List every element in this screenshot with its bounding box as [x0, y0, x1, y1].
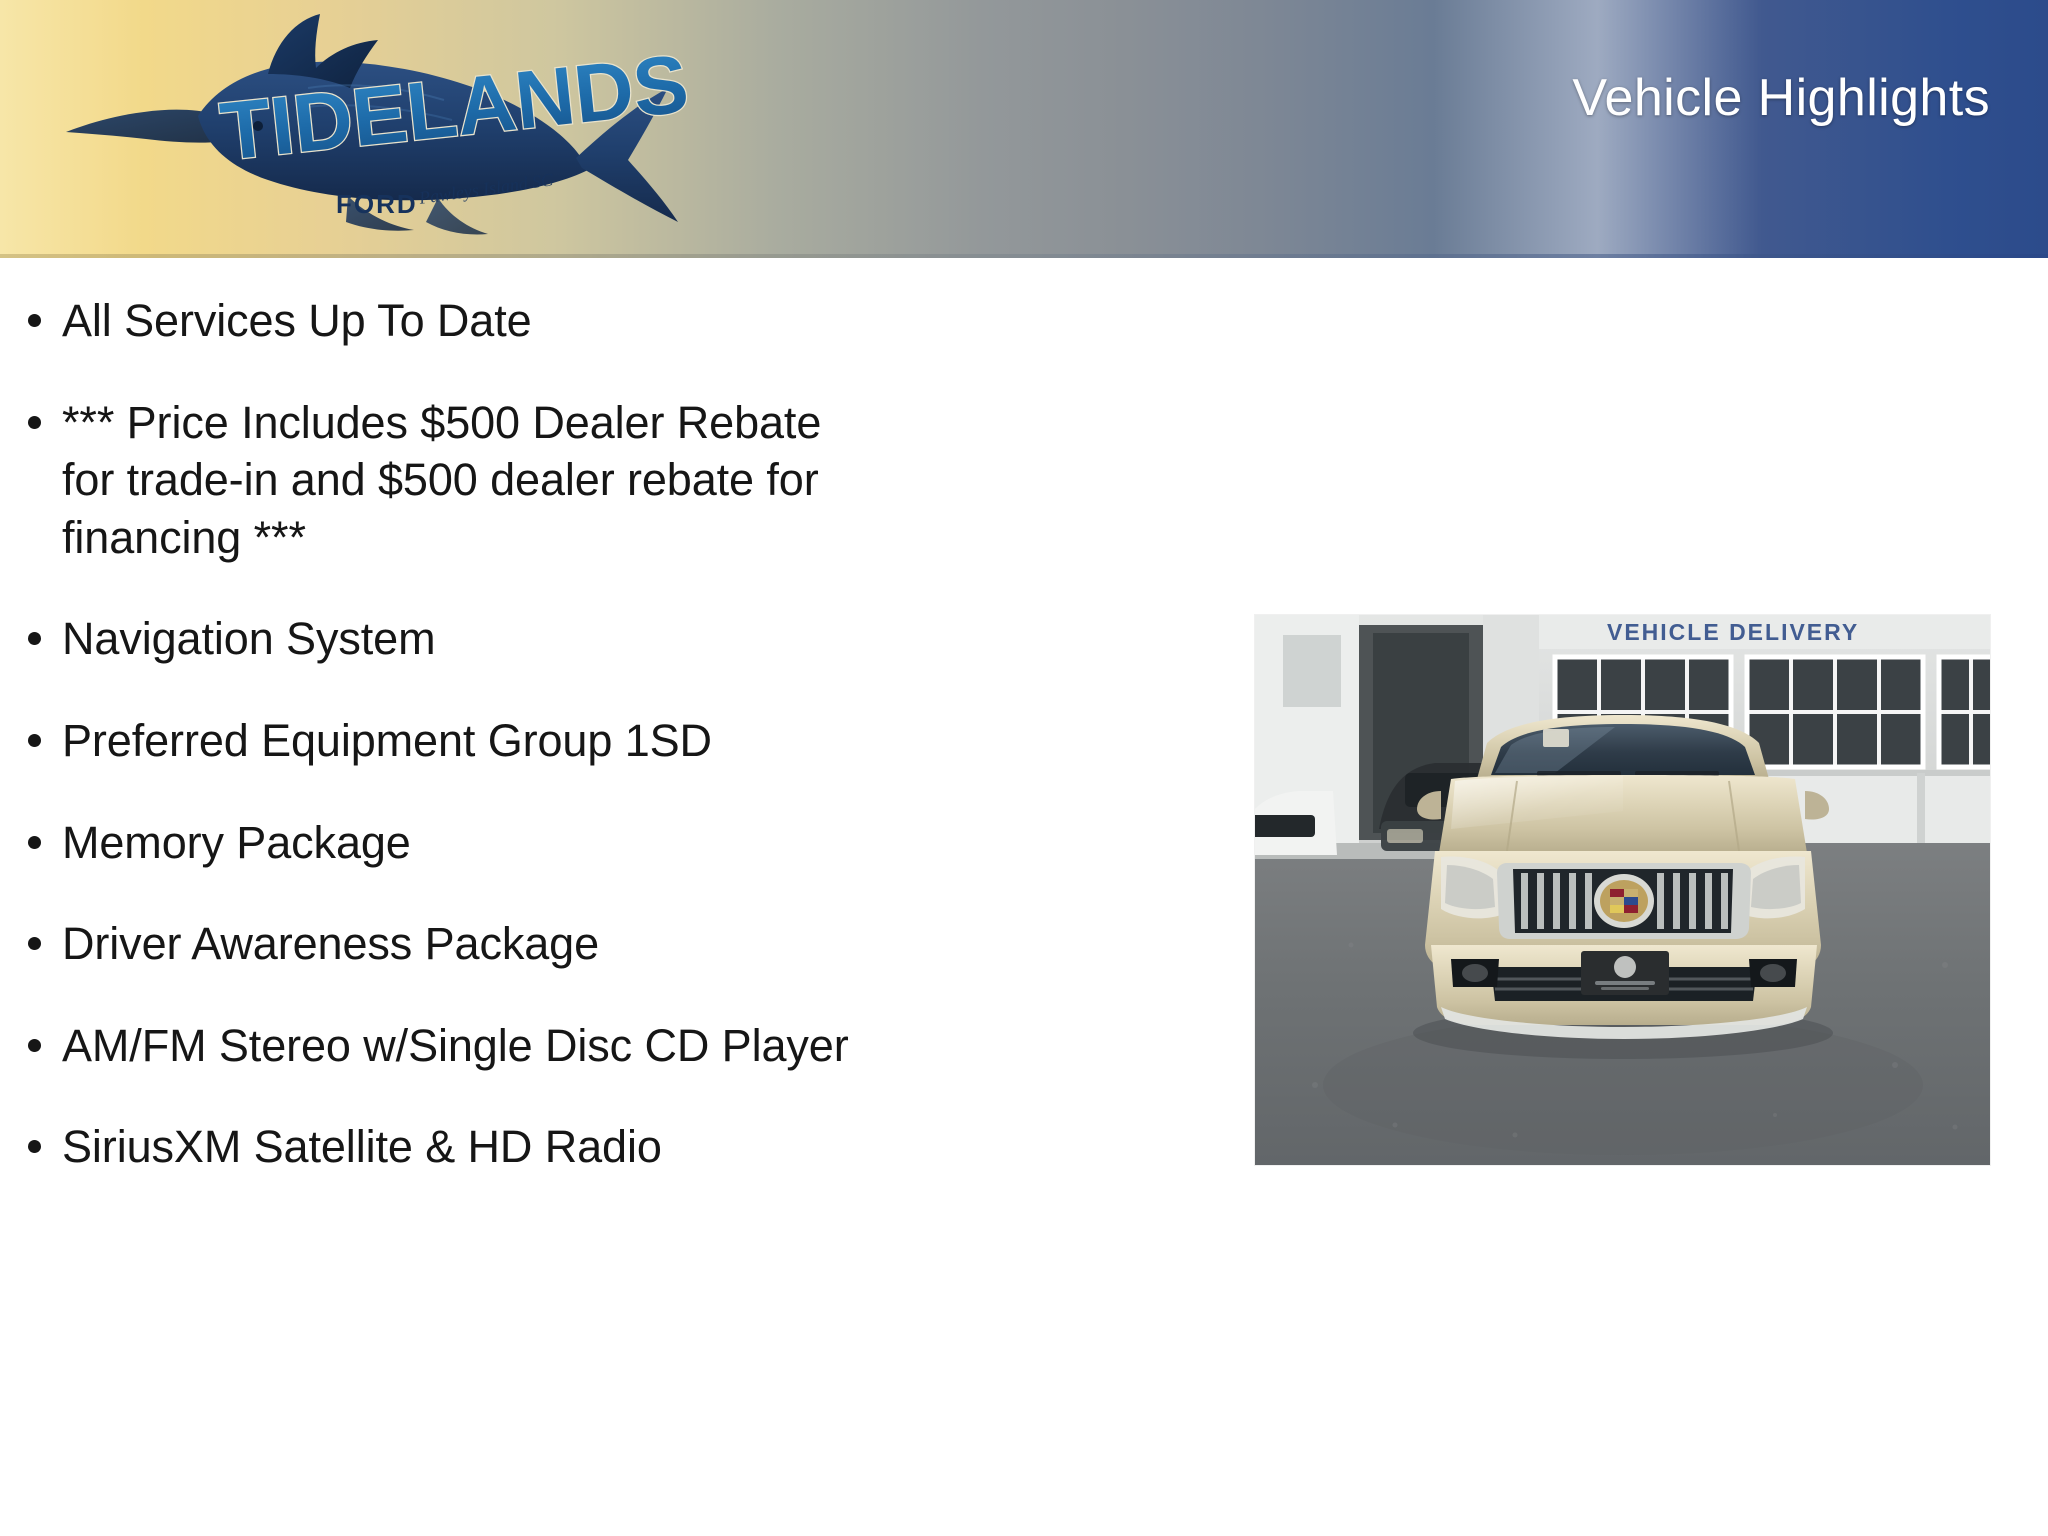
header-banner: TIDELANDS FORD Pawleys Island SC Vehicle…: [0, 0, 2048, 258]
vehicle-highlights-list: All Services Up To Date *** Price Includ…: [22, 292, 1202, 1176]
list-item: AM/FM Stereo w/Single Disc CD Player: [22, 1017, 1202, 1075]
bullet-point-icon: [28, 314, 41, 327]
dealership-sign-text: VEHICLE DELIVERY: [1607, 619, 1859, 645]
list-item-label: All Services Up To Date: [62, 292, 1202, 350]
vehicle-front-photo: VEHICLE DELIVERY: [1255, 615, 1990, 1165]
bullet-point-icon: [28, 632, 41, 645]
list-item-label: SiriusXM Satellite & HD Radio: [62, 1118, 1202, 1176]
bullet-point-icon: [28, 416, 41, 429]
bullet-point-icon: [28, 734, 41, 747]
bullet-point-icon: [28, 1140, 41, 1153]
bullet-point-icon: [28, 937, 41, 950]
page-title: Vehicle Highlights: [1572, 68, 1990, 128]
bullet-point-icon: [28, 1039, 41, 1052]
list-item-label: Navigation System: [62, 610, 1202, 668]
list-item-label: Driver Awareness Package: [62, 915, 1202, 973]
logo-sub-wordmark: FORD: [336, 189, 418, 219]
list-item: All Services Up To Date: [22, 292, 1202, 350]
cadillac-emblem-icon: [1594, 874, 1654, 928]
list-item-label: AM/FM Stereo w/Single Disc CD Player: [62, 1017, 1202, 1075]
list-item-label: Memory Package: [62, 814, 1202, 872]
list-item: Preferred Equipment Group 1SD: [22, 712, 1202, 770]
list-item: Navigation System: [22, 610, 1202, 668]
list-item: SiriusXM Satellite & HD Radio: [22, 1118, 1202, 1176]
bullet-point-icon: [28, 836, 41, 849]
list-item-label: Preferred Equipment Group 1SD: [62, 712, 1202, 770]
list-item: Memory Package: [22, 814, 1202, 872]
list-item: *** Price Includes $500 Dealer Rebate fo…: [22, 394, 1202, 567]
tidelands-ford-logo[interactable]: TIDELANDS FORD Pawleys Island SC: [48, 8, 688, 253]
list-item-label: *** Price Includes $500 Dealer Rebate fo…: [62, 394, 872, 567]
list-item: Driver Awareness Package: [22, 915, 1202, 973]
